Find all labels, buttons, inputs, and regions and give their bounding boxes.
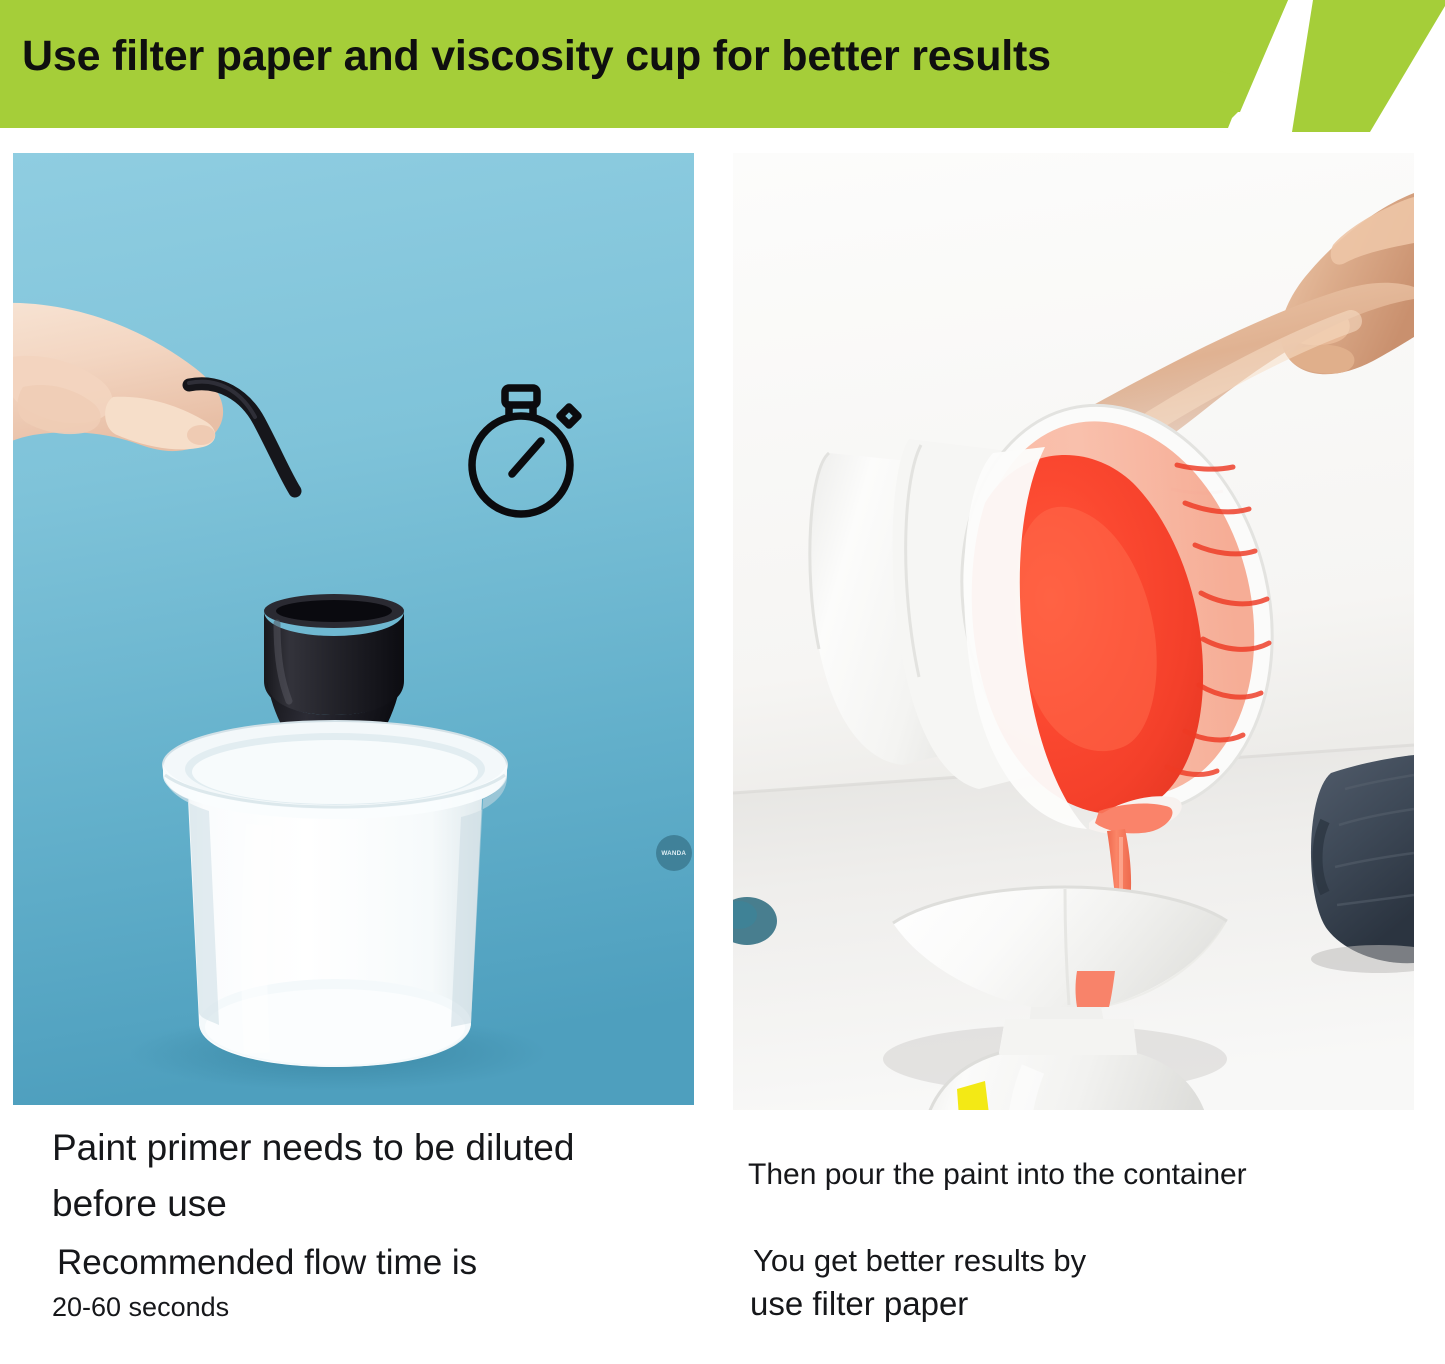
viscosity-cup-photo: WANDA — [13, 153, 694, 1105]
pour-paint-scene — [733, 153, 1414, 1110]
page-title: Use filter paper and viscosity cup for b… — [22, 34, 1051, 79]
pour-paint-photo — [733, 153, 1414, 1110]
header-banner: Use filter paper and viscosity cup for b… — [0, 0, 1445, 134]
caption-left-tertiary: 20-60 seconds — [52, 1292, 229, 1323]
caption-right-secondary: You get better results by — [753, 1243, 1086, 1279]
caption-left-primary: Paint primer needs to be diluted before … — [52, 1120, 652, 1232]
caption-left-secondary: Recommended flow time is — [57, 1243, 477, 1283]
watermark-badge: WANDA — [656, 835, 692, 871]
caption-right-primary: Then pour the paint into the container — [748, 1158, 1247, 1192]
viscosity-cup-scene — [13, 153, 694, 1105]
watermark-label: WANDA — [662, 850, 687, 856]
paint-bucket — [163, 721, 507, 1067]
stopwatch-icon — [465, 381, 595, 526]
caption-right-tertiary: use filter paper — [750, 1285, 968, 1323]
slide-root: Use filter paper and viscosity cup for b… — [0, 0, 1445, 1364]
